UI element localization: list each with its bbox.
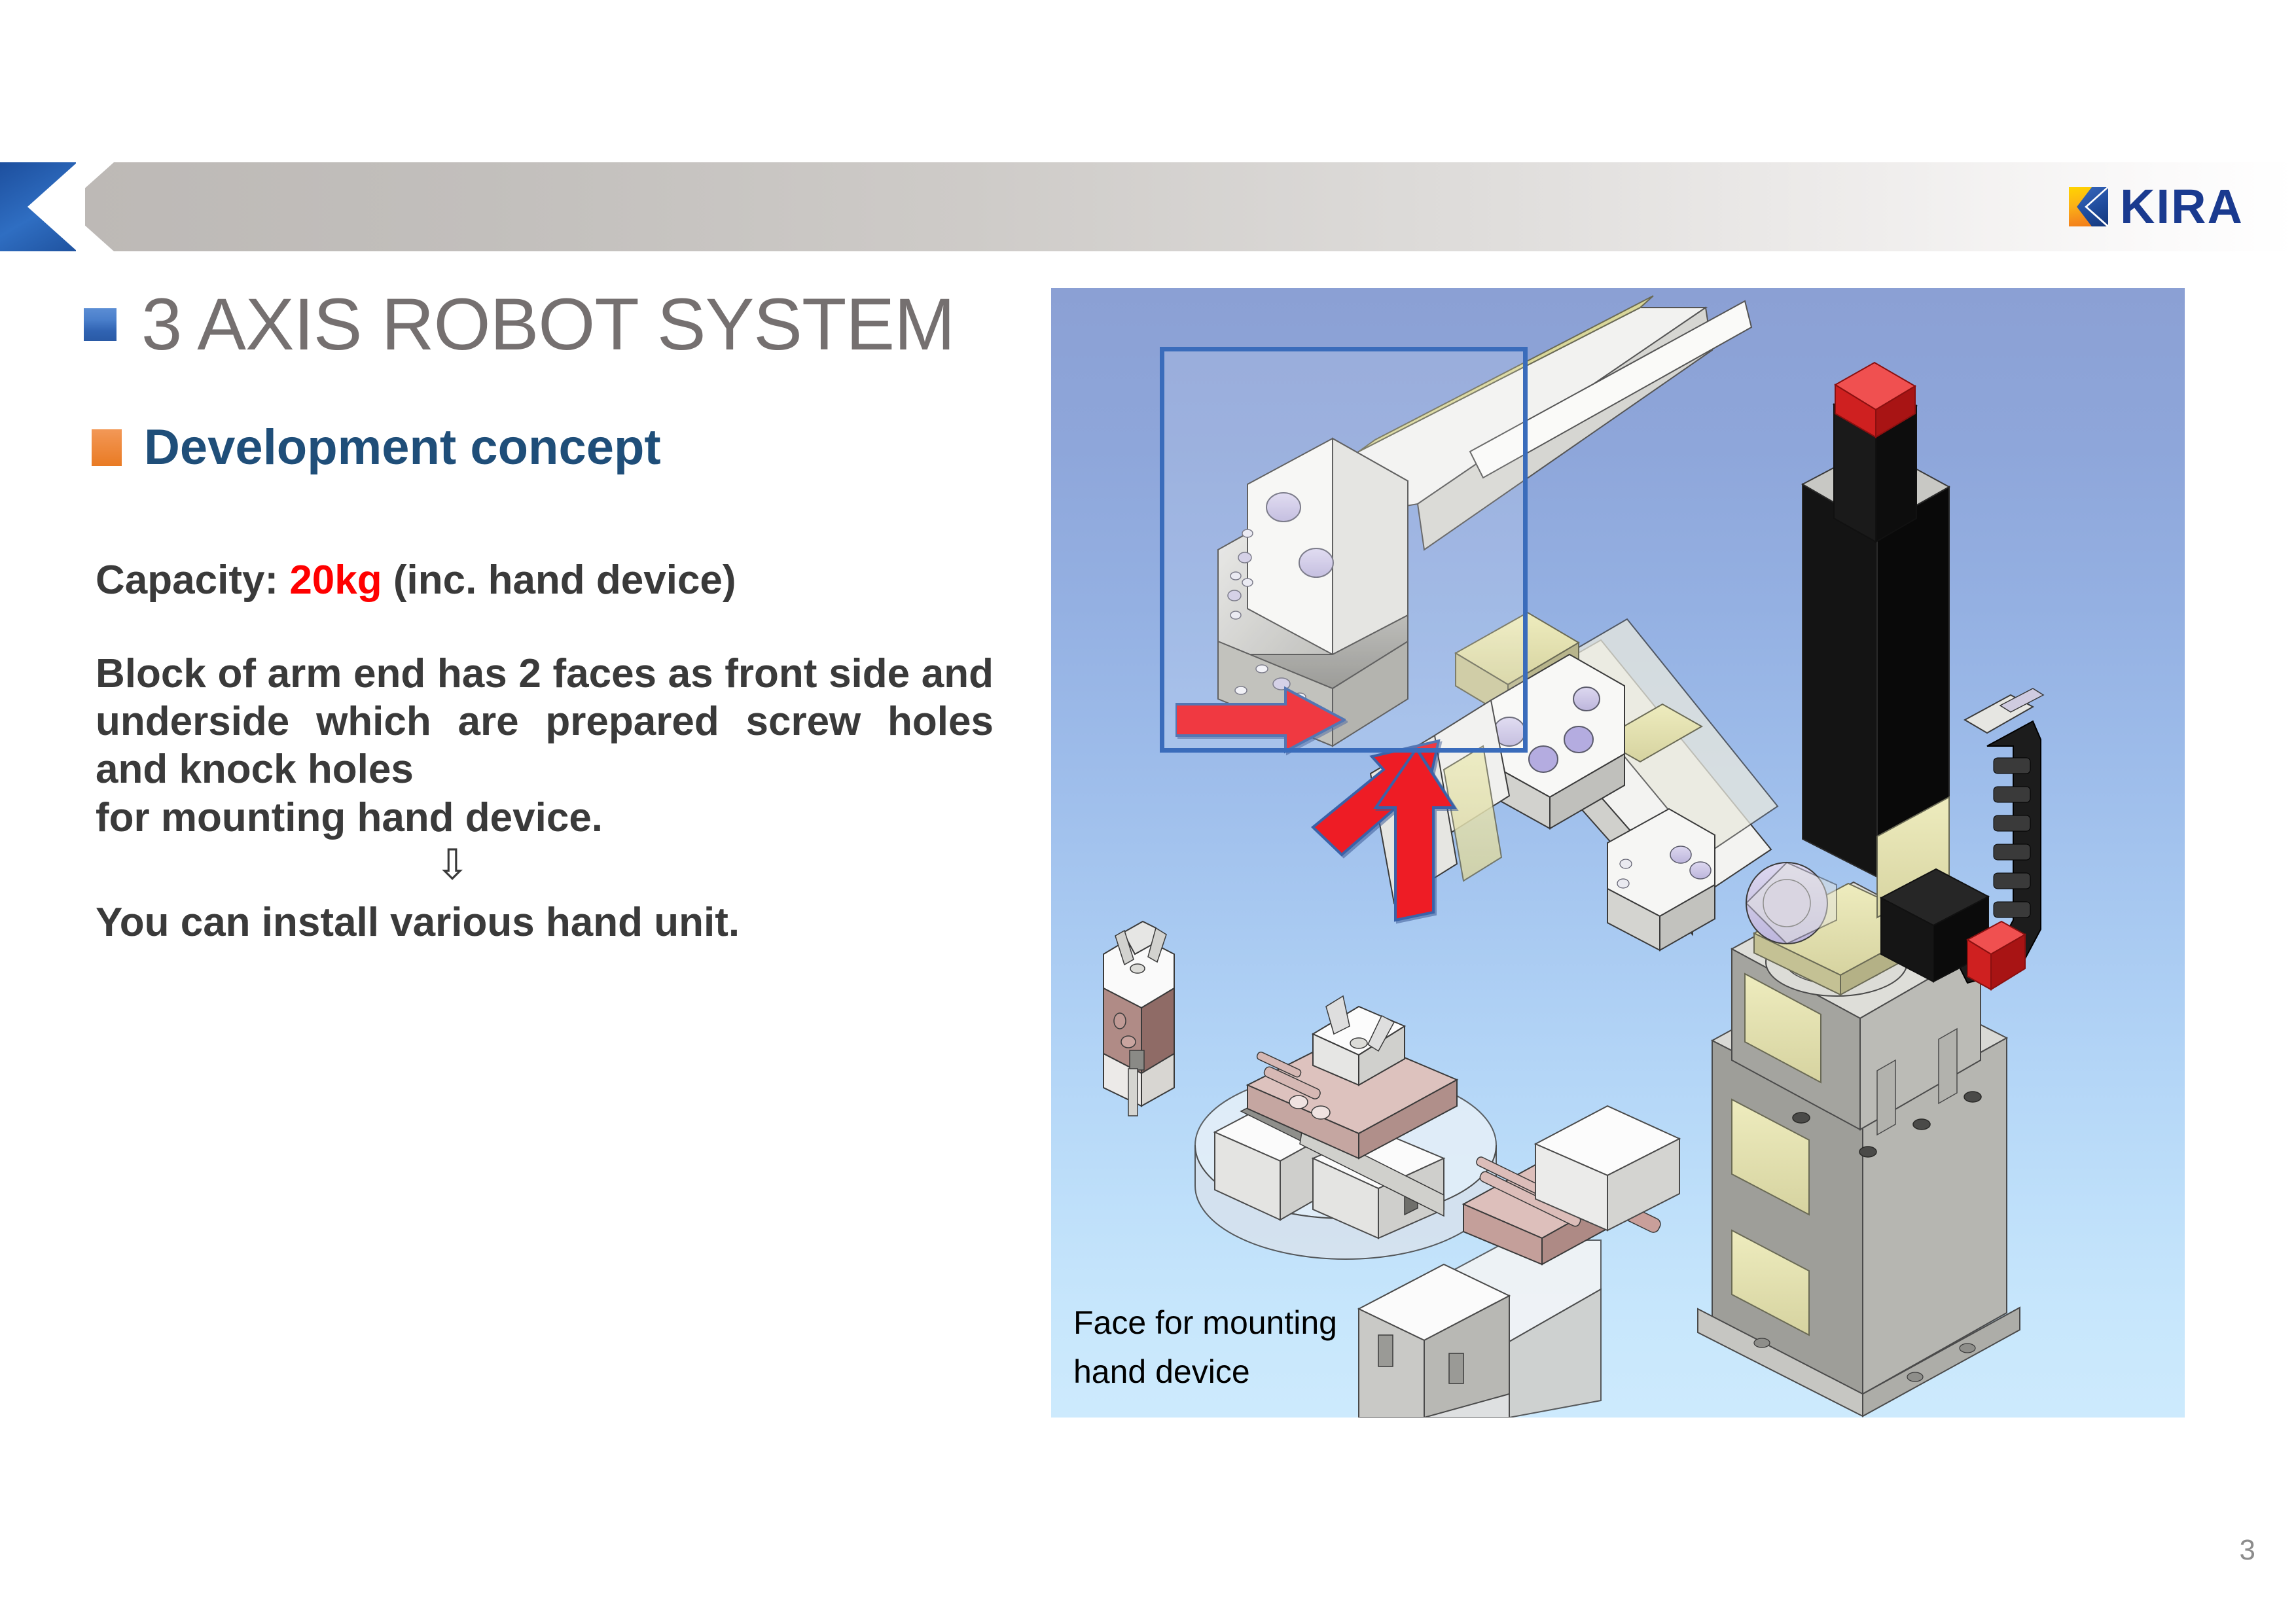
body-text-column: Capacity: 20kg (inc. hand device) Block …	[96, 556, 1012, 947]
arrow-up-bottom-icon	[1372, 746, 1457, 923]
robot-system-figure: Face for mounting hand device	[1051, 288, 2185, 1418]
page-title: 3 AXIS ROBOT SYSTEM	[84, 288, 954, 361]
section-subtitle-label: Development concept	[144, 423, 661, 473]
page-title-label: 3 AXIS ROBOT SYSTEM	[141, 288, 954, 361]
kira-k-logo-icon	[2069, 187, 2108, 226]
header-bar	[85, 162, 2296, 251]
capacity-line: Capacity: 20kg (inc. hand device)	[96, 556, 1012, 604]
description-paragraph: Block of arm end has 2 faces as front si…	[96, 650, 994, 793]
conclusion-line: You can install various hand unit.	[96, 899, 1012, 946]
page-number: 3	[2240, 1534, 2255, 1567]
header-banner	[0, 162, 2296, 251]
face-mounting-callout-box	[1160, 347, 1528, 753]
turntable-hand-unit-part	[1195, 996, 1496, 1259]
down-arrow-glyph-icon: ⇩	[96, 847, 809, 885]
rotary-hand-unit-part	[1103, 921, 1174, 1116]
capacity-label: Capacity:	[96, 558, 278, 603]
section-subtitle: Development concept	[92, 423, 661, 473]
callout-label-line2: hand device	[1073, 1347, 1401, 1397]
kira-logo: KIRA	[2069, 177, 2244, 237]
capacity-suffix: (inc. hand device)	[393, 558, 736, 603]
callout-label-line1: Face for mounting	[1073, 1298, 1401, 1347]
brand-name: KIRA	[2120, 183, 2244, 231]
face-mounting-callout-label: Face for mounting hand device	[1073, 1298, 1401, 1397]
description-paragraph-line2: for mounting hand device.	[96, 794, 1012, 842]
capacity-value: 20kg	[289, 558, 382, 603]
subtitle-bullet-square-icon	[92, 429, 122, 466]
title-bullet-square-icon	[84, 308, 117, 341]
